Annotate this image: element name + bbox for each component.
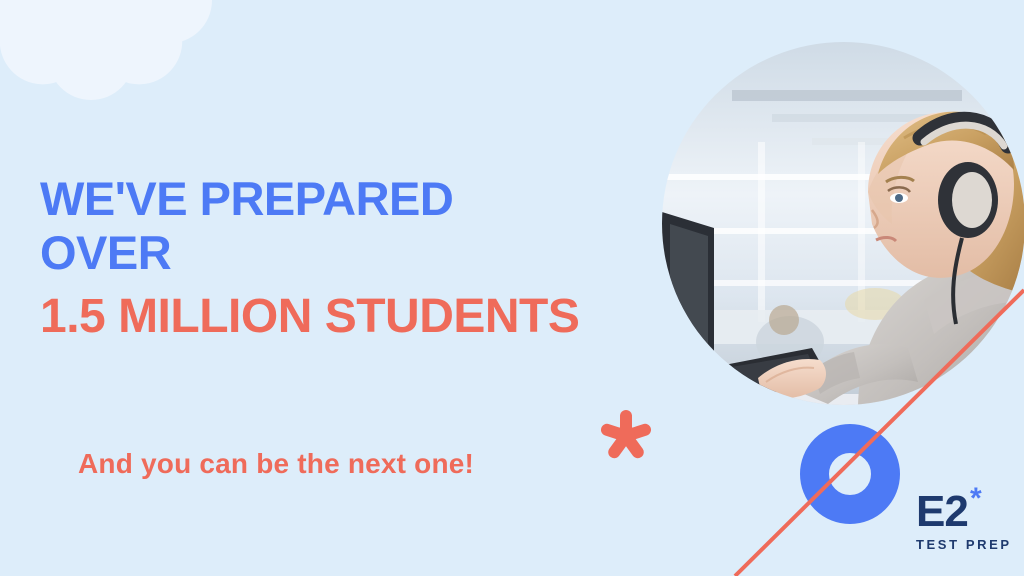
blue-donut-ring (800, 424, 900, 524)
promo-banner: WE'VE PREPARED OVER 1.5 MILLION STUDENTS… (0, 0, 1024, 576)
logo-star-icon: * (970, 484, 981, 514)
headline-line-2: OVER (40, 226, 660, 280)
logo-tagline: TEST PREP (916, 537, 1016, 552)
asterisk-icon (598, 408, 654, 464)
subtext: And you can be the next one! (78, 448, 474, 480)
headline-line-1: WE'VE PREPARED (40, 172, 660, 226)
headline-line-3: 1.5 MILLION STUDENTS (40, 290, 660, 344)
logo-mark-text: E2 (916, 487, 968, 536)
headline-block: WE'VE PREPARED OVER 1.5 MILLION STUDENTS (40, 172, 660, 344)
logo-mark: E2 * (916, 490, 1016, 534)
student-photo (662, 42, 1024, 405)
e2-logo: E2 * TEST PREP (916, 490, 1016, 552)
